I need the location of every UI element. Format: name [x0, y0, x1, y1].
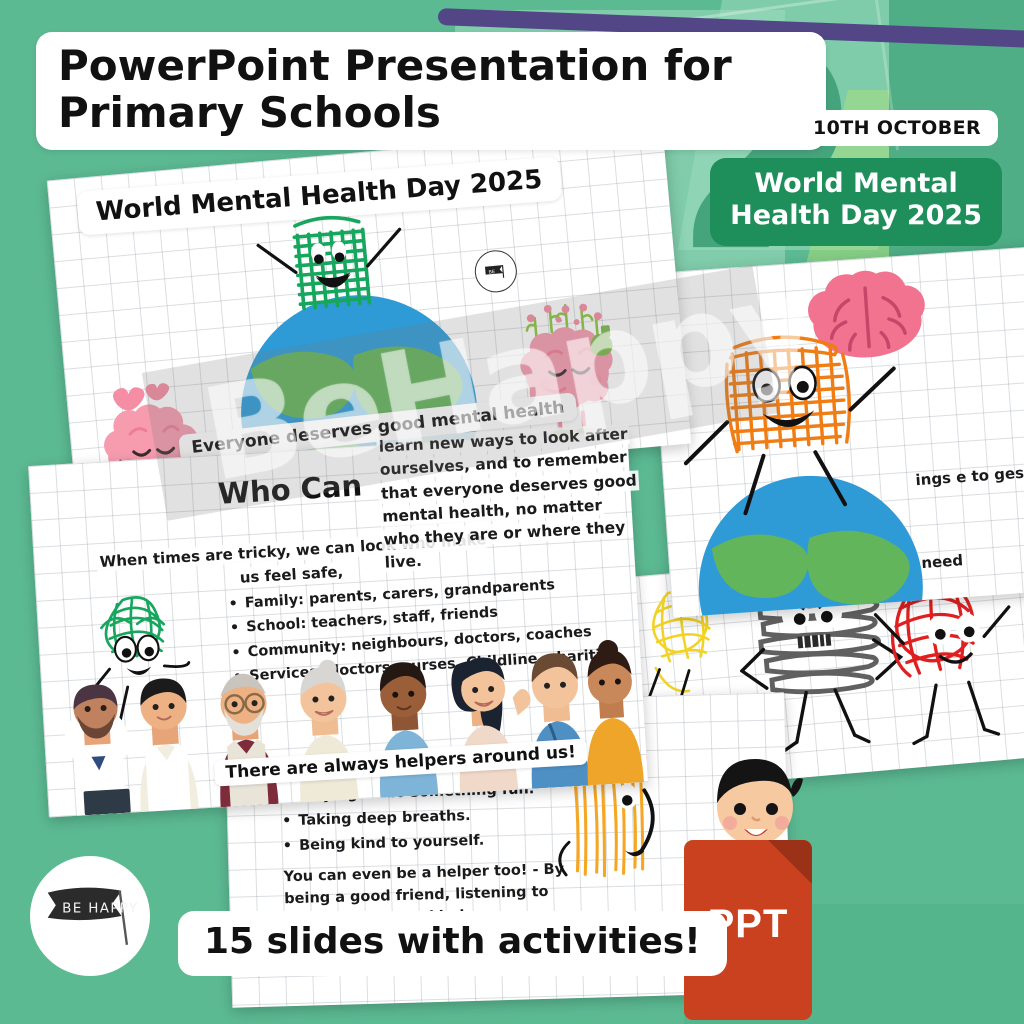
slides-count-banner: 15 slides with activities!	[178, 911, 727, 976]
date-badge: 10TH OCTOBER	[796, 110, 998, 146]
svg-text:BE: BE	[488, 269, 495, 276]
flag-icon: BE HAPPY	[40, 880, 140, 952]
page-title: PowerPoint Presentation for Primary Scho…	[36, 32, 826, 150]
logo-text: BE HAPPY	[62, 900, 139, 916]
event-badge-line-2: Health Day 2025	[730, 200, 982, 232]
slide-body-text: learn new ways to look after ourselves, …	[376, 422, 643, 575]
event-badge-line-1: World Mental	[730, 168, 982, 200]
event-badge: World Mental Health Day 2025	[710, 158, 1002, 246]
slide-card-deserves[interactable]: learn new ways to look after ourselves, …	[322, 308, 737, 629]
file-fold-corner-icon	[768, 840, 812, 884]
be-happy-logo[interactable]: BE HAPPY	[30, 856, 150, 976]
